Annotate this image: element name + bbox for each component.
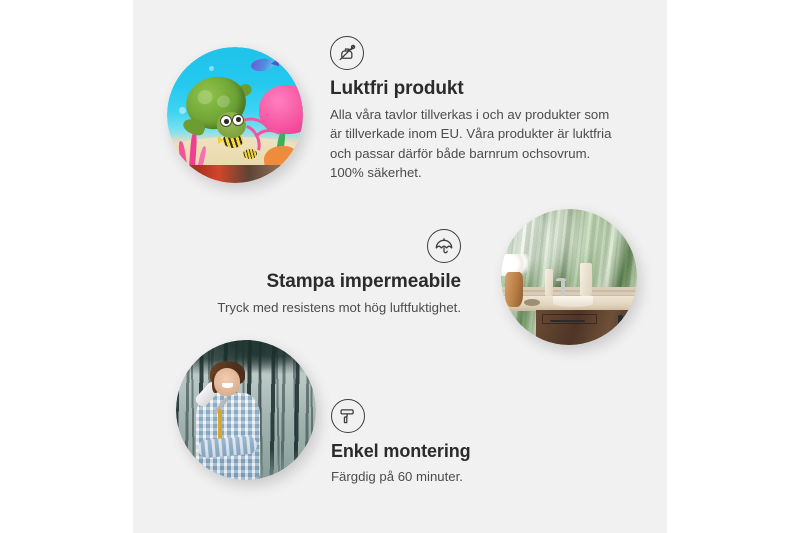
forest-canopy xyxy=(176,340,316,376)
bubble-icon xyxy=(179,107,186,114)
no-fragrance-icon xyxy=(330,36,364,70)
photo-underwater-cartoon-scene xyxy=(167,47,303,183)
photo-painter-inner xyxy=(176,340,316,480)
photo-bottom-strip xyxy=(167,165,303,183)
feature-title: Stampa impermeabile xyxy=(180,272,461,293)
photo-woman-with-paint-roller xyxy=(176,340,316,480)
faucet-icon xyxy=(561,280,565,298)
soap-bottle-icon xyxy=(580,263,592,296)
feature-title: Luktfri produkt xyxy=(330,79,615,100)
feature-title: Enkel montering xyxy=(331,442,591,462)
feature-easy-assembly: Enkel montering Färgdig på 60 minuter. xyxy=(331,399,591,486)
promo-banner: Luktfri produkt Alla våra tavlor tillver… xyxy=(0,0,800,533)
photo-bathroom-with-tropical-wallpaper xyxy=(501,209,637,345)
feature-description: Färgdig på 60 minuter. xyxy=(331,467,591,487)
feature-description: Tryck med resistens mot hög luftfuktighe… xyxy=(180,298,461,318)
bubble-icon xyxy=(209,66,214,71)
feature-odour-free: Luktfri produkt Alla våra tavlor tillver… xyxy=(330,36,615,183)
photo-bathroom-inner xyxy=(501,209,637,345)
paint-roller-icon xyxy=(331,399,365,433)
door-handle xyxy=(618,315,623,335)
umbrella-icon xyxy=(427,229,461,263)
soap-bottle-icon xyxy=(545,269,553,296)
vase-icon xyxy=(505,272,523,307)
soap-dish-icon xyxy=(524,299,540,306)
octopus-eye xyxy=(302,104,303,110)
smile xyxy=(222,383,233,387)
wood-vanity-cabinet xyxy=(536,310,637,345)
face xyxy=(214,368,241,396)
sink-basin xyxy=(553,296,594,307)
feature-waterproof-print: Stampa impermeabile Tryck med resistens … xyxy=(180,229,461,317)
paint-roller-handle xyxy=(218,409,222,443)
feature-description: Alla våra tavlor tillverkas i och av pro… xyxy=(330,105,615,183)
drawer-handle xyxy=(550,320,584,322)
photo-underwater-inner xyxy=(167,47,303,183)
